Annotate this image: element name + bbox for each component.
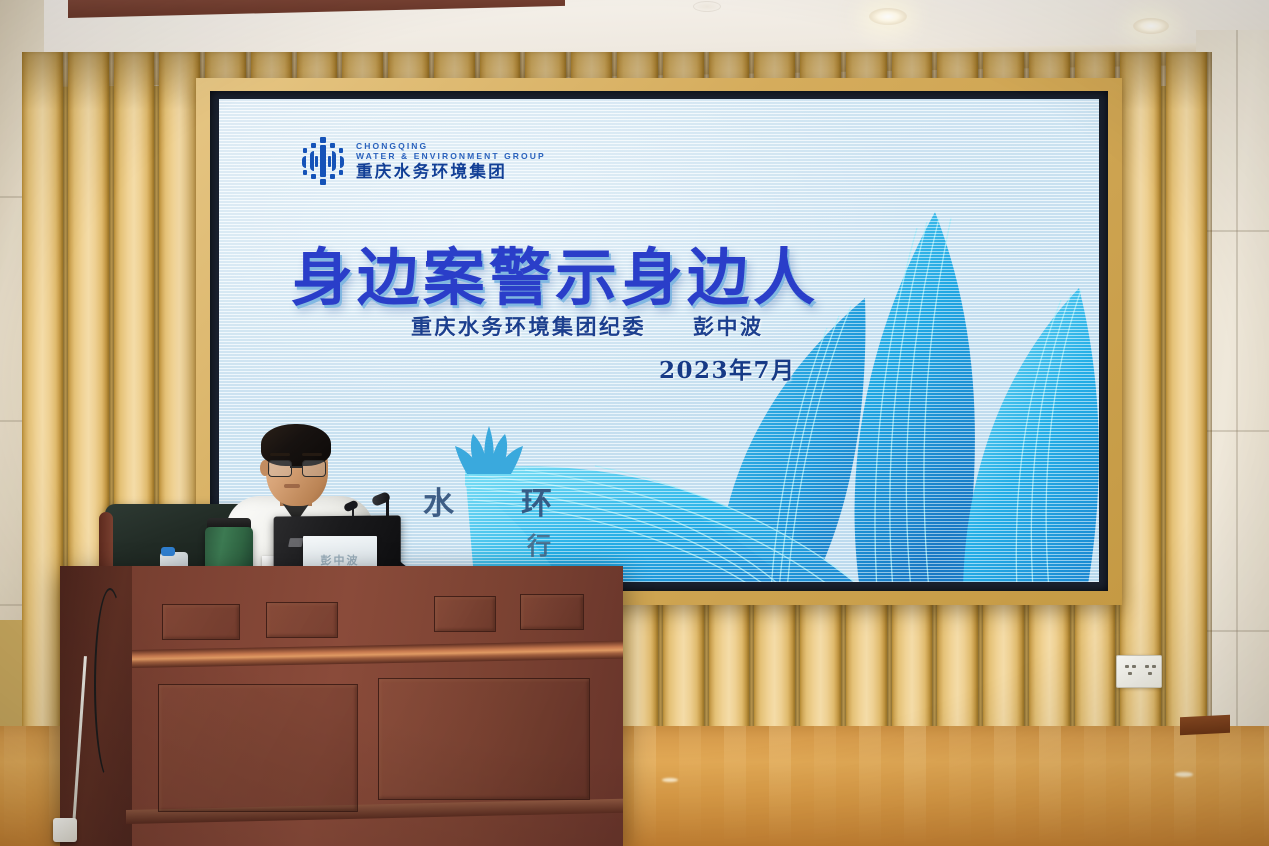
watermark-text-1: 水 环 bbox=[423, 478, 570, 523]
presenter-mouth bbox=[284, 484, 300, 488]
podium-upper-panel bbox=[266, 602, 338, 638]
logo-line-cn: 重庆水务环境集团 bbox=[356, 162, 546, 181]
wall-slat bbox=[1120, 52, 1161, 752]
floor-reflection bbox=[769, 726, 791, 846]
floor-baseboard bbox=[1180, 715, 1230, 736]
podium-upper-panel bbox=[434, 596, 496, 632]
slide-subtitle: 重庆水务环境集团纪委 彭中波 bbox=[411, 311, 764, 341]
presenter-eyebrow bbox=[270, 453, 290, 456]
floor-reflection bbox=[4, 726, 26, 846]
floor-reflection bbox=[1219, 726, 1241, 846]
presentation-room-photo: CHONGQING WATER & ENVIRONMENT GROUP 重庆水务… bbox=[0, 0, 1269, 846]
wall-slat-groove bbox=[1207, 52, 1212, 752]
hanging-cable bbox=[94, 588, 126, 782]
eyeglasses-icon bbox=[268, 460, 326, 475]
lotus-watermark-icon bbox=[443, 424, 535, 476]
floor-reflection bbox=[904, 726, 926, 846]
wall-slat-groove bbox=[1161, 52, 1166, 752]
floor-reflection bbox=[724, 726, 746, 846]
floor-reflection bbox=[679, 726, 701, 846]
chongqing-water-group-logo-mark bbox=[301, 137, 345, 185]
floor-reflection bbox=[994, 726, 1016, 846]
floor-reflection bbox=[859, 726, 881, 846]
logo-line-en-2: WATER & ENVIRONMENT GROUP bbox=[356, 151, 546, 161]
brand-logo: CHONGQING WATER & ENVIRONMENT GROUP 重庆水务… bbox=[301, 137, 546, 185]
floor-highlight bbox=[1175, 772, 1193, 777]
wall-power-socket[interactable] bbox=[1116, 655, 1162, 688]
recessed-downlight-icon bbox=[869, 8, 907, 25]
floor-reflection bbox=[634, 726, 656, 846]
floor-reflection bbox=[1174, 726, 1196, 846]
wall-slat bbox=[22, 52, 63, 752]
floor-reflection bbox=[1264, 726, 1269, 846]
floor-reflection bbox=[1039, 726, 1061, 846]
power-adapter bbox=[53, 818, 77, 842]
laptop-logo-icon bbox=[288, 538, 303, 547]
floor-reflection bbox=[814, 726, 836, 846]
watermark-text-2: 行 bbox=[527, 526, 557, 561]
floor-reflection bbox=[1129, 726, 1151, 846]
floor-reflection bbox=[949, 726, 971, 846]
podium-desk bbox=[60, 566, 623, 846]
wall-slat bbox=[1166, 52, 1207, 752]
bottle-cap bbox=[161, 547, 175, 556]
podium-molding-rail bbox=[132, 641, 623, 668]
slide-title: 身边案警示身边人 bbox=[291, 227, 819, 317]
floor-reflection bbox=[1084, 726, 1106, 846]
podium-lower-panel bbox=[378, 678, 590, 800]
slide-date: 2023年7月 bbox=[659, 351, 796, 385]
floor-highlight bbox=[662, 778, 678, 782]
podium-upper-panel bbox=[162, 604, 240, 640]
logo-line-en-1: CHONGQING bbox=[356, 141, 546, 151]
recessed-downlight-icon bbox=[1133, 18, 1169, 34]
recessed-downlight-icon bbox=[693, 1, 721, 12]
podium-lower-panel bbox=[158, 684, 358, 812]
presenter-eyebrow bbox=[302, 453, 322, 456]
podium-upper-panel bbox=[520, 594, 584, 630]
